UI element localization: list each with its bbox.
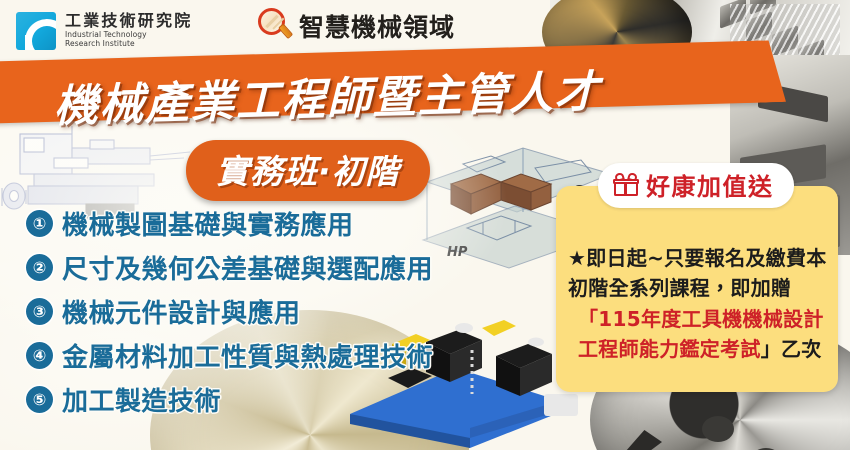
promo-card: ★即日起~只要報名及繳費本 初階全系列課程，即加贈 「115年度工具機機械設計 … [556, 186, 838, 392]
promo-title: 好康加值送 [646, 167, 774, 202]
itri-name-zh: 工業技術研究院 [65, 13, 192, 30]
promo-line-text: 工程師能力鑑定考試 [578, 337, 761, 361]
list-item-label: 尺寸及幾何公差基礎與選配應用 [62, 249, 433, 286]
promo-line-text: 「115年度工具機機械設計 [578, 307, 824, 331]
promo-header: 好康加值送 [598, 163, 794, 208]
domain-tag-label: 智慧機械領域 [299, 8, 455, 44]
itri-logo-text: 工業技術研究院 Industrial Technology Research I… [65, 13, 192, 49]
promo-line: 工程師能力鑑定考試」乙次 [568, 335, 828, 363]
list-item: ② 尺寸及幾何公差基礎與選配應用 [26, 249, 433, 286]
itri-name-en: Industrial Technology Research Institute [65, 30, 192, 49]
promo-body: ★即日起~只要報名及繳費本 初階全系列課程，即加贈 「115年度工具機機械設計 … [568, 244, 828, 364]
gift-icon [614, 173, 638, 196]
promo-line-text: ★即日起~只要報名及繳費本 [568, 246, 827, 270]
list-item: ④ 金屬材料加工性質與熱處理技術 [26, 337, 433, 374]
list-item-number: ① [26, 210, 53, 237]
list-item-label: 機械元件設計與應用 [62, 293, 301, 330]
itri-arc-logo-icon [16, 12, 56, 50]
list-item-number: ③ [26, 298, 53, 325]
domain-tag: 智慧機械領域 [258, 8, 455, 44]
list-item: ① 機械製圖基礎與實務應用 [26, 205, 433, 242]
list-item-label: 機械製圖基礎與實務應用 [62, 205, 354, 242]
subtitle-text: 實務班·初階 [216, 152, 400, 191]
itri-name-en-line2: Research Institute [65, 39, 192, 49]
itri-logo: 工業技術研究院 Industrial Technology Research I… [14, 10, 198, 52]
list-item-number: ② [26, 254, 53, 281]
list-item-label: 金屬材料加工性質與熱處理技術 [62, 337, 433, 374]
promo-line-text: 初階全系列課程，即加贈 [568, 276, 791, 300]
course-list: ① 機械製圖基礎與實務應用 ② 尺寸及幾何公差基礎與選配應用 ③ 機械元件設計與… [26, 205, 433, 418]
promotional-banner: HP G 工 [0, 0, 850, 450]
promo-line: 初階全系列課程，即加贈 [568, 274, 828, 302]
list-item: ⑤ 加工製造技術 [26, 381, 433, 418]
subtitle-pill: 實務班·初階 [186, 140, 430, 201]
list-item-number: ④ [26, 342, 53, 369]
itri-name-en-line1: Industrial Technology [65, 30, 192, 40]
main-title-text: 機械產業工程師暨主管人才 [54, 56, 600, 135]
svg-text:HP: HP [447, 245, 468, 260]
magnifier-icon [258, 8, 292, 44]
promo-line: ★即日起~只要報名及繳費本 [568, 244, 828, 272]
promo-line-tail: 」乙次 [761, 337, 822, 361]
list-item: ③ 機械元件設計與應用 [26, 293, 433, 330]
list-item-number: ⑤ [26, 386, 53, 413]
promo-line: 「115年度工具機機械設計 [568, 305, 828, 333]
list-item-label: 加工製造技術 [62, 381, 221, 418]
